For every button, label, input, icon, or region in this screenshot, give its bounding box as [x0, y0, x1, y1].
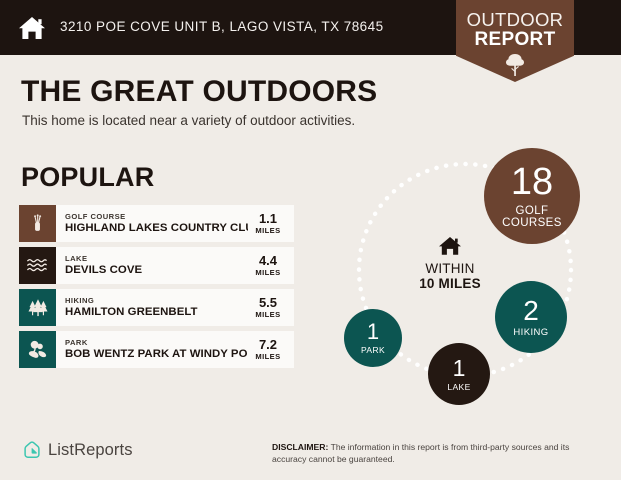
stat-circle-golf-courses[interactable]: 18 GOLF COURSES	[484, 148, 580, 244]
distance-unit: MILES	[255, 310, 280, 320]
disclaimer-label: DISCLAIMER:	[272, 442, 328, 452]
list-item-distance: 1.1 MILES	[248, 205, 294, 242]
listreports-house-logo-icon	[22, 440, 42, 460]
list-item[interactable]: LAKE DEVILS COVE 4.4 MILES	[19, 247, 294, 284]
list-item-distance: 7.2 MILES	[248, 331, 294, 368]
center-line-1: WITHIN	[395, 261, 505, 276]
distance-unit: MILES	[255, 352, 280, 362]
list-item[interactable]: PARK BOB WENTZ PARK AT WINDY POINT 7.2 M…	[19, 331, 294, 368]
stat-label: LAKE	[447, 383, 470, 392]
list-item-text: PARK BOB WENTZ PARK AT WINDY POINT	[56, 331, 248, 368]
stat-circle-lake[interactable]: 1 LAKE	[428, 343, 490, 405]
list-item[interactable]: GOLF COURSE HIGHLAND LAKES COUNTRY CLUB …	[19, 205, 294, 242]
trees-icon	[19, 289, 56, 326]
stat-circle-hiking[interactable]: 2 HIKING	[495, 281, 567, 353]
popular-section-title: POPULAR	[21, 162, 154, 193]
stat-label: PARK	[361, 346, 385, 355]
distance-unit: MILES	[255, 226, 280, 236]
stat-count: 2	[523, 297, 539, 325]
list-item-text: LAKE DEVILS COVE	[56, 247, 248, 284]
stat-label: HIKING	[513, 328, 548, 338]
disclaimer: DISCLAIMER: The information in this repo…	[272, 442, 592, 465]
house-icon	[17, 13, 47, 43]
property-address: 3210 POE COVE UNIT B, LAGO VISTA, TX 786…	[60, 19, 384, 34]
distance-value: 5.5	[259, 296, 277, 310]
distance-unit: MILES	[255, 268, 280, 278]
list-item-name: HIGHLAND LAKES COUNTRY CLUB	[65, 222, 248, 235]
badge-line-2: REPORT	[456, 29, 574, 51]
list-item-category: PARK	[65, 338, 248, 348]
center-line-2: 10 MILES	[395, 276, 505, 291]
tree-icon	[505, 53, 525, 77]
list-item[interactable]: HIKING HAMILTON GREENBELT 5.5 MILES	[19, 289, 294, 326]
stat-label-line-2: COURSES	[502, 217, 562, 229]
list-item-category: HIKING	[65, 296, 248, 306]
water-waves-icon	[19, 247, 56, 284]
list-item-name: BOB WENTZ PARK AT WINDY POINT	[65, 348, 248, 361]
list-item-distance: 4.4 MILES	[248, 247, 294, 284]
page-subtitle: This home is located near a variety of o…	[22, 113, 355, 128]
stat-circle-park[interactable]: 1 PARK	[344, 309, 402, 367]
outdoor-report-page: 3210 POE COVE UNIT B, LAGO VISTA, TX 786…	[0, 0, 621, 480]
stat-label-line-1: GOLF	[516, 205, 549, 217]
list-item-text: HIKING HAMILTON GREENBELT	[56, 289, 248, 326]
popular-poi-list: GOLF COURSE HIGHLAND LAKES COUNTRY CLUB …	[19, 205, 294, 373]
list-item-name: HAMILTON GREENBELT	[65, 306, 248, 319]
outdoor-report-badge: OUTDOOR REPORT	[456, 0, 574, 82]
golf-bag-icon	[19, 205, 56, 242]
park-tree-bench-icon	[19, 331, 56, 368]
stat-label: GOLF COURSES	[502, 205, 562, 229]
list-item-text: GOLF COURSE HIGHLAND LAKES COUNTRY CLUB	[56, 205, 248, 242]
stat-count: 1	[367, 321, 379, 343]
house-icon	[438, 235, 462, 256]
distance-value: 4.4	[259, 254, 277, 268]
badge-line-1: OUTDOOR	[456, 9, 574, 31]
within-10-miles-diagram: 18 GOLF COURSES 2 HIKING 1 LAKE 1 PARK	[320, 135, 610, 415]
list-item-category: LAKE	[65, 254, 248, 264]
list-item-name: DEVILS COVE	[65, 264, 248, 277]
distance-value: 1.1	[259, 212, 277, 226]
list-item-category: GOLF COURSE	[65, 212, 248, 222]
stat-count: 1	[453, 357, 466, 380]
diagram-center-label: WITHIN 10 MILES	[395, 235, 505, 291]
stat-count: 18	[511, 163, 553, 201]
listreports-logo-text: ListReports	[48, 441, 133, 460]
listreports-logo[interactable]: ListReports	[22, 440, 133, 460]
distance-value: 7.2	[259, 338, 277, 352]
page-title: THE GREAT OUTDOORS	[21, 75, 377, 109]
list-item-distance: 5.5 MILES	[248, 289, 294, 326]
